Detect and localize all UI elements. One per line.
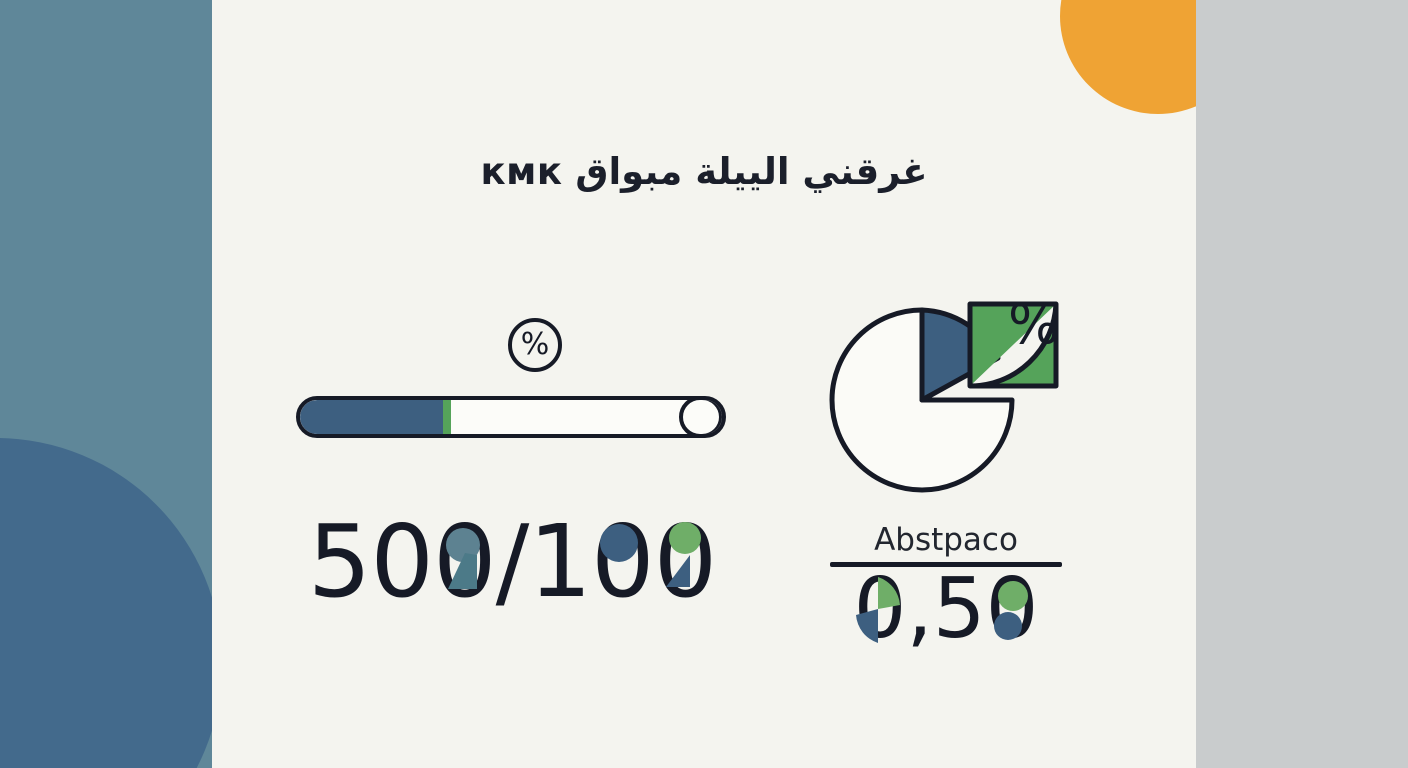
fraction-numerator-label: Abstpaco [822,522,1070,559]
decorated-zero-blue: 0 [591,503,654,620]
infographic-canvas: غرقني الييلة مبواق кмк % 500/100 [0,0,1408,768]
progress-bar-end-cap [679,396,723,438]
progress-denominator-one: 1 [528,503,591,620]
progress-bar-accent-marker [443,400,452,434]
progress-numerator: 50 [308,503,433,620]
decorated-zero-green: 0 [654,503,717,620]
orange-circle-decor [1060,0,1196,114]
fraction-five: 5 [933,560,986,657]
progress-bar-fill [300,400,443,434]
decorated-zero-pie: 0 [854,565,907,652]
fraction-denominator-value: 0,50 [822,565,1070,652]
left-panel-circle-decor [0,438,212,768]
percent-badge-symbol: % [521,330,550,360]
right-decorative-panel [1196,0,1408,768]
progress-value-label: 500/100 [292,503,732,620]
percent-badge-icon: % [508,318,562,372]
pie-percent-symbol: % [1008,298,1059,352]
fraction-comma: , [906,560,932,657]
pie-chart-group: % Abstpaco 0,50 [812,290,1112,690]
decorated-zero-teal: 0 [433,503,496,620]
fraction-block: Abstpaco 0,50 [822,522,1070,652]
page-title: غرقني الييلة مبواق кмк [212,150,1196,193]
progress-separator: / [496,503,529,620]
main-card: غرقني الييلة مبواق кмк % 500/100 [212,0,1196,768]
left-decorative-panel [0,0,212,768]
progress-bar-group: % 500/100 [296,318,736,678]
decorated-zero-dots: 0 [986,565,1039,652]
progress-bar-track[interactable] [296,396,726,438]
